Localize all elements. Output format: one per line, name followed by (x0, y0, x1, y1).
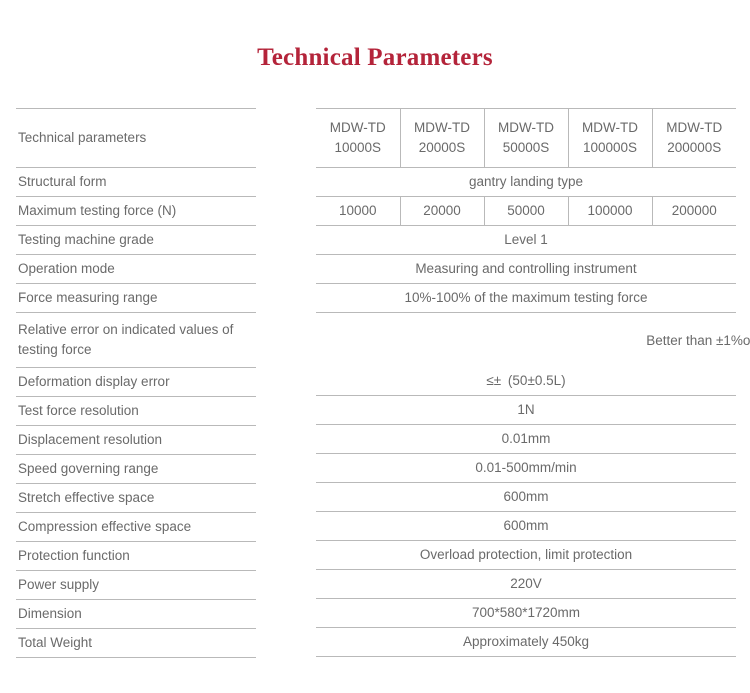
parameter-label: Speed governing range (16, 455, 256, 484)
model-family: MDW-TD (571, 118, 650, 138)
table-row: 0.01-500mm/min (316, 454, 736, 483)
model-header-cell: MDW-TD20000S (400, 109, 484, 168)
parameter-label: Compression effective space (16, 513, 256, 542)
model-code: 50000S (487, 138, 566, 158)
parameter-value-cell: 0.01-500mm/min (316, 454, 736, 483)
parameter-label: Total Weight (16, 629, 256, 658)
parameter-label: Test force resolution (16, 397, 256, 426)
parameter-value-cell: 50000 (484, 197, 568, 226)
table-row-note: Better than ±1%of the indicated value (o… (316, 313, 736, 368)
parameter-value-cell: 220V (316, 570, 736, 599)
model-family: MDW-TD (403, 118, 482, 138)
model-header-cell: MDW-TD200000S (652, 109, 736, 168)
parameter-label: Stretch effective space (16, 484, 256, 513)
parameter-label: Structural form (16, 168, 256, 197)
parameter-value-note-cell: Better than ±1%of the indicated value (o… (316, 313, 736, 368)
table-row: 600mm (316, 512, 736, 541)
table-row: 10%-100% of the maximum testing force (316, 284, 736, 313)
model-code: 200000S (655, 138, 735, 158)
parameter-value-cell: 200000 (652, 197, 736, 226)
model-code: 10000S (318, 138, 398, 158)
table-row: 100002000050000100000200000 (316, 197, 736, 226)
table-row: Dimension (16, 600, 256, 629)
parameter-value-cell: gantry landing type (316, 168, 736, 197)
parameter-value-cell: 600mm (316, 483, 736, 512)
parameter-value-cell: 20000 (400, 197, 484, 226)
table-row: Total Weight (16, 629, 256, 658)
parameter-value-cell: 10%-100% of the maximum testing force (316, 284, 736, 313)
model-family: MDW-TD (655, 118, 735, 138)
table-row: Testing machine grade (16, 226, 256, 255)
parameter-value-cell: ≤± (50±0.5L) (316, 367, 736, 396)
parameter-value-cell: Overload protection, limit protection (316, 541, 736, 570)
parameter-label: Displacement resolution (16, 426, 256, 455)
table-row: 700*580*1720mm (316, 599, 736, 628)
table-row: Force measuring range (16, 284, 256, 313)
table-row: Measuring and controlling instrument (316, 255, 736, 284)
table-row: Deformation display error (16, 368, 256, 397)
page-title: Technical Parameters (0, 44, 750, 72)
table-row: Power supply (16, 571, 256, 600)
table-row: Displacement resolution (16, 426, 256, 455)
model-header-cell: MDW-TD10000S (316, 109, 400, 168)
table-row-header: Technical parameters (16, 109, 256, 168)
table-row: Operation mode (16, 255, 256, 284)
parameter-label-table: Technical parametersStructural formMaxim… (16, 108, 256, 658)
parameter-label: Operation mode (16, 255, 256, 284)
table-row: Protection function (16, 542, 256, 571)
table-row: gantry landing type (316, 168, 736, 197)
parameter-value-cell: 600mm (316, 512, 736, 541)
table-row: Structural form (16, 168, 256, 197)
parameter-label: Maximum testing force (N) (16, 197, 256, 226)
parameter-value-body: MDW-TD10000SMDW-TD20000SMDW-TD50000SMDW-… (316, 109, 736, 657)
parameter-label: Deformation display error (16, 368, 256, 397)
parameter-label: Dimension (16, 600, 256, 629)
table-row: ≤± (50±0.5L) (316, 367, 736, 396)
parameter-value-table: MDW-TD10000SMDW-TD20000SMDW-TD50000SMDW-… (316, 108, 736, 657)
label-column-header: Technical parameters (16, 109, 256, 168)
parameter-label: Protection function (16, 542, 256, 571)
parameter-label-body: Technical parametersStructural formMaxim… (16, 109, 256, 658)
parameter-label: Testing machine grade (16, 226, 256, 255)
model-code: 100000S (571, 138, 650, 158)
parameter-value-cell: 1N (316, 396, 736, 425)
parameter-value-cell: 100000 (568, 197, 652, 226)
parameter-value-cell: 10000 (316, 197, 400, 226)
table-row: Stretch effective space (16, 484, 256, 513)
parameter-label: Force measuring range (16, 284, 256, 313)
table-row: 0.01mm (316, 425, 736, 454)
parameter-value-cell: Approximately 450kg (316, 628, 736, 657)
parameter-value-cell: 0.01mm (316, 425, 736, 454)
table-row: Level 1 (316, 226, 736, 255)
table-row: Compression effective space (16, 513, 256, 542)
model-header-cell: MDW-TD50000S (484, 109, 568, 168)
model-family: MDW-TD (318, 118, 398, 138)
parameter-value-cell: Measuring and controlling instrument (316, 255, 736, 284)
table-row: 600mm (316, 483, 736, 512)
table-row: 220V (316, 570, 736, 599)
table-row: Speed governing range (16, 455, 256, 484)
table-row: Overload protection, limit protection (316, 541, 736, 570)
table-row-model-header: MDW-TD10000SMDW-TD20000SMDW-TD50000SMDW-… (316, 109, 736, 168)
table-row: Test force resolution (16, 397, 256, 426)
table-row: Maximum testing force (N) (16, 197, 256, 226)
model-family: MDW-TD (487, 118, 566, 138)
parameter-value-cell: 700*580*1720mm (316, 599, 736, 628)
parameter-value-note: Better than ±1%of the indicated value (o… (622, 331, 750, 351)
parameter-label: Power supply (16, 571, 256, 600)
model-header-cell: MDW-TD100000S (568, 109, 652, 168)
table-row: Approximately 450kg (316, 628, 736, 657)
parameter-value-cell: Level 1 (316, 226, 736, 255)
model-code: 20000S (403, 138, 482, 158)
parameter-label: Relative error on indicated values of te… (16, 313, 256, 368)
table-row: 1N (316, 396, 736, 425)
table-row: Relative error on indicated values of te… (16, 313, 256, 368)
